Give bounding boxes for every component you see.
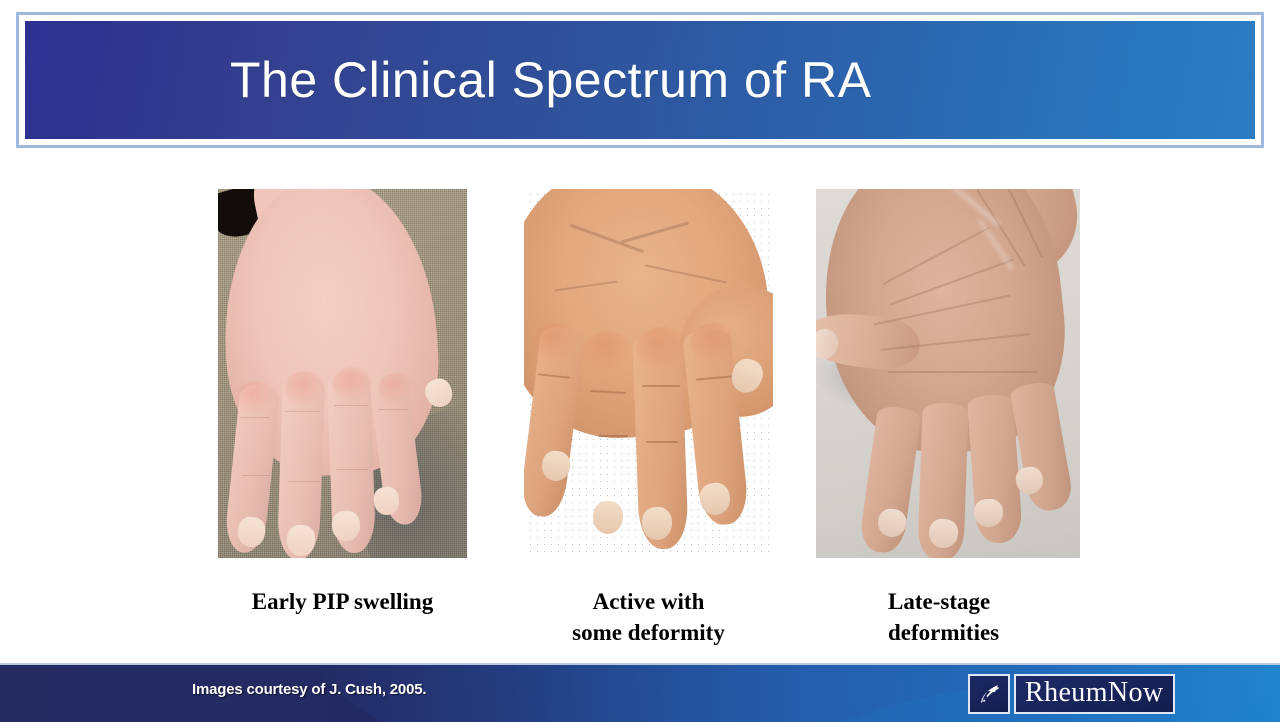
page-title: The Clinical Spectrum of RA <box>230 51 872 109</box>
figure-2-caption: Active with some deformity <box>524 586 773 648</box>
figure-2-mcp-swelling-3 <box>636 327 690 373</box>
figure-3-caption: Late-stage deformities <box>888 586 1108 648</box>
figure-1-image <box>218 189 467 558</box>
figure-1-caption: Early PIP swelling <box>218 586 467 617</box>
figure-2-mcp-swelling-4 <box>690 323 740 365</box>
rheumnow-wordmark-text: RheumNow <box>1025 679 1164 707</box>
figure-1-pip-swelling-4 <box>378 373 414 405</box>
image-credit: Images courtesy of J. Cush, 2005. <box>192 681 426 698</box>
figure-1-pip-swelling-3 <box>332 367 374 403</box>
figure-3-wrinkle <box>888 371 1038 373</box>
rheumnow-logo[interactable]: RheumNow <box>968 674 1175 714</box>
rheumnow-wordmark: RheumNow <box>1014 674 1175 714</box>
figure-2-crease <box>642 385 680 387</box>
figure-1-pip-swelling-1 <box>236 381 276 415</box>
figure-1-pip-swelling-2 <box>284 371 326 407</box>
figure-2-crease <box>646 441 678 443</box>
figure-1-crease <box>378 409 408 410</box>
figure-1-crease <box>334 405 368 406</box>
slide: The Clinical Spectrum of RA <box>0 0 1280 720</box>
figure-1-crease <box>288 481 320 482</box>
figure-1-crease <box>336 469 368 470</box>
title-bar: The Clinical Spectrum of RA <box>25 21 1255 139</box>
figure-2-mcp-swelling-2 <box>582 331 634 375</box>
figure-2-image <box>524 189 773 558</box>
figure-2-crease <box>598 435 628 437</box>
title-frame: The Clinical Spectrum of RA <box>16 12 1264 148</box>
figure-1-crease <box>240 417 270 418</box>
figure-1-crease <box>242 475 270 476</box>
figure-2-mcp-swelling-1 <box>532 323 578 363</box>
figure-3-image <box>816 189 1080 558</box>
rheumnow-swoosh-icon <box>968 674 1010 714</box>
figure-1-crease <box>286 411 320 412</box>
